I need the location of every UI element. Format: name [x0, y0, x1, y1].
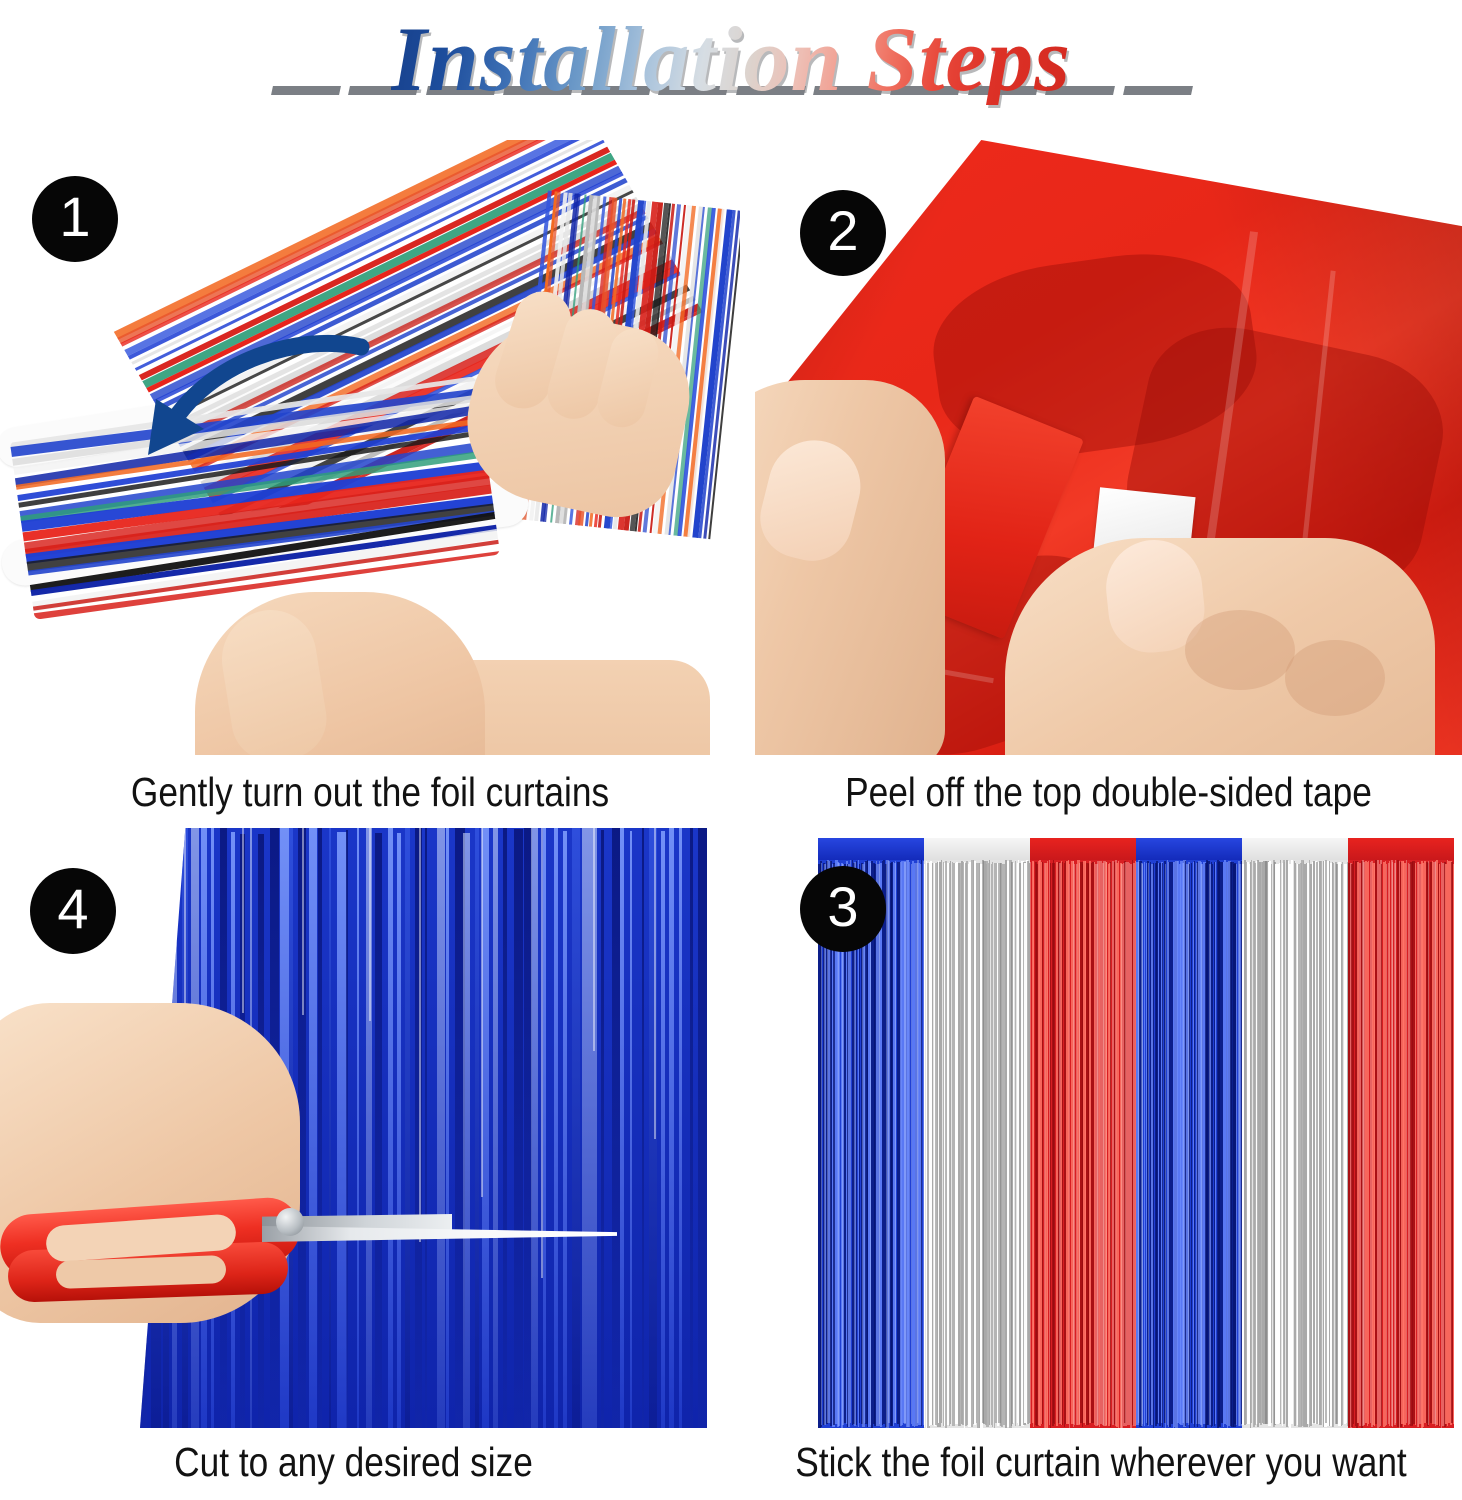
step-3-number: 3 [827, 879, 858, 935]
step-2-badge: 2 [800, 190, 886, 276]
step-2-caption: Peel off the top double-sided tape [804, 772, 1412, 813]
step-2-number: 2 [827, 203, 858, 259]
left-hand-holding-foil [755, 380, 945, 755]
fringe-panel-6 [1348, 838, 1454, 1428]
fringe-panel-3 [1030, 838, 1136, 1428]
step-4-caption: Cut to any desired size [49, 1442, 657, 1483]
fringe-strands [1348, 860, 1454, 1428]
step-3-image [810, 838, 1462, 1428]
fringe-panel-2 [924, 838, 1030, 1428]
page-title: Installation Steps [391, 13, 1071, 105]
fringe-panel-5 [1242, 838, 1348, 1428]
fringe-strands [1242, 860, 1348, 1428]
knuckle-b [1285, 640, 1385, 716]
step-3-caption: Stick the foil curtain wherever you want [791, 1442, 1412, 1483]
step-1-caption: Gently turn out the foil curtains [52, 772, 688, 813]
step-3-badge: 3 [800, 866, 886, 952]
scissors-finger-hole-lower [56, 1255, 227, 1289]
fringe-strands [1136, 860, 1242, 1428]
scissors-pivot-screw [276, 1208, 304, 1236]
knuckle-a [1185, 610, 1295, 690]
step-1-badge: 1 [32, 176, 118, 262]
step-4-badge: 4 [30, 868, 116, 954]
fringe-strands [924, 860, 1030, 1428]
fringe-strands [1030, 860, 1136, 1428]
fringe-panel-4 [1136, 838, 1242, 1428]
foil-fringe-curtain-set [818, 838, 1454, 1428]
step-4-number: 4 [57, 881, 88, 937]
step-1-number: 1 [59, 189, 90, 245]
page-title-bar: Installation Steps [0, 0, 1462, 118]
curved-arrow-down-left-icon [112, 325, 372, 485]
